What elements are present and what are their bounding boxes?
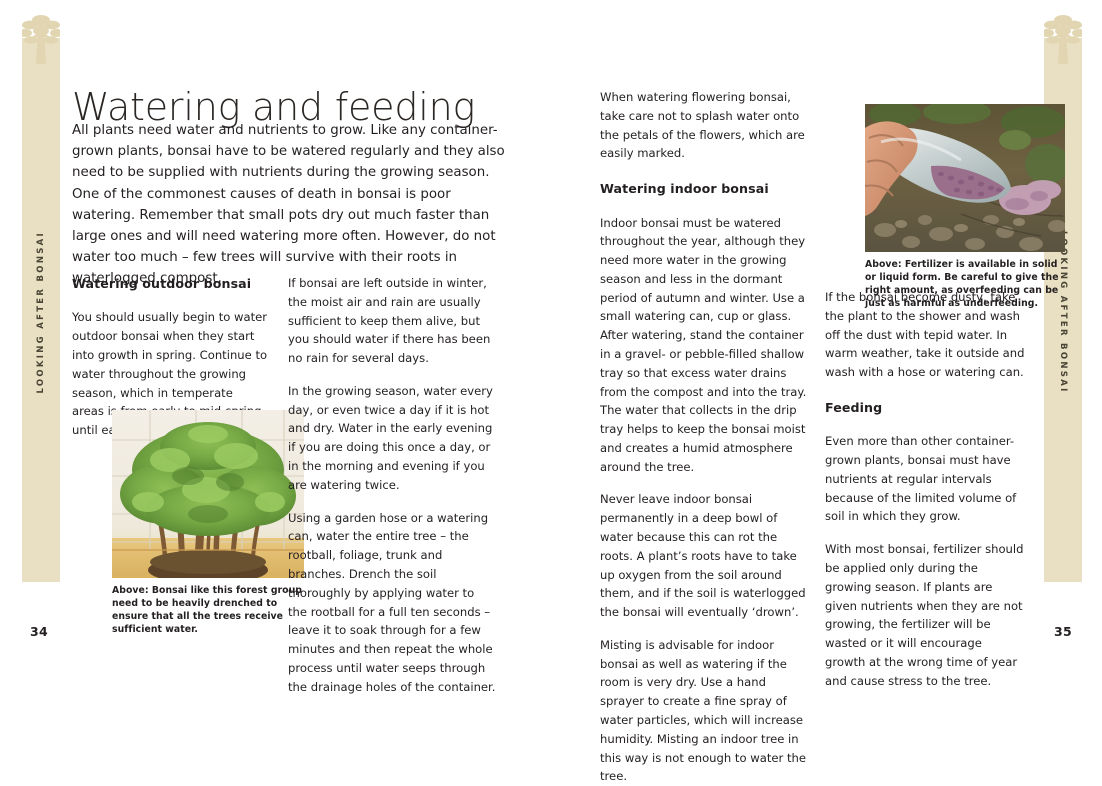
subhead-watering-indoor-bonsai: Watering indoor bonsai: [600, 179, 808, 199]
text-column-4: If the bonsai become dusty, take the pla…: [825, 288, 1025, 690]
paragraph: When watering flowering bonsai, take car…: [600, 88, 808, 163]
caption-lead: Above:: [112, 585, 149, 596]
text-column-2: If bonsai are left outside in winter, th…: [288, 274, 496, 696]
text-column-3: When watering flowering bonsai, take car…: [600, 88, 808, 786]
paragraph: With most bonsai, fertilizer should be a…: [825, 540, 1025, 690]
paragraph: Using a garden hose or a watering can, w…: [288, 509, 496, 697]
paragraph: Even more than other container-grown pla…: [825, 432, 1025, 526]
subhead-feeding: Feeding: [825, 398, 1025, 418]
fertilizer-scoop-photo: [865, 104, 1065, 252]
figure-fertilizer-scoop: Above: Fertilizer is available in solid …: [865, 104, 1065, 310]
forest-group-bonsai-photo: [112, 410, 304, 578]
figure-forest-group: Above: Bonsai like this forest group nee…: [112, 410, 304, 636]
intro-paragraph: All plants need water and nutrients to g…: [72, 120, 517, 289]
page-number-left: 34: [30, 624, 48, 639]
caption-lead: Above:: [865, 259, 902, 270]
paragraph: In the growing season, water every day, …: [288, 382, 496, 495]
book-spread: LOOKING AFTER BONSAI LOOKING AFTER BONSA…: [0, 0, 1102, 657]
subhead-watering-outdoor-bonsai: Watering outdoor bonsai: [72, 274, 268, 294]
left-page-thumb-tab: LOOKING AFTER BONSAI: [22, 0, 60, 582]
paragraph: Indoor bonsai must be watered throughout…: [600, 214, 808, 477]
figure-caption: Above: Bonsai like this forest group nee…: [112, 584, 304, 636]
bonsai-tree-icon: [1044, 12, 1082, 64]
tab-label-left: LOOKING AFTER BONSAI: [22, 62, 60, 562]
tab-label-text: LOOKING AFTER BONSAI: [36, 231, 46, 394]
paragraph: Never leave indoor bonsai permanently in…: [600, 490, 808, 621]
bonsai-tree-icon: [22, 12, 60, 64]
paragraph: Misting is advisable for indoor bonsai a…: [600, 636, 808, 786]
paragraph: If bonsai are left outside in winter, th…: [288, 274, 496, 368]
page-number-right: 35: [1054, 624, 1072, 639]
paragraph: If the bonsai become dusty, take the pla…: [825, 288, 1025, 382]
